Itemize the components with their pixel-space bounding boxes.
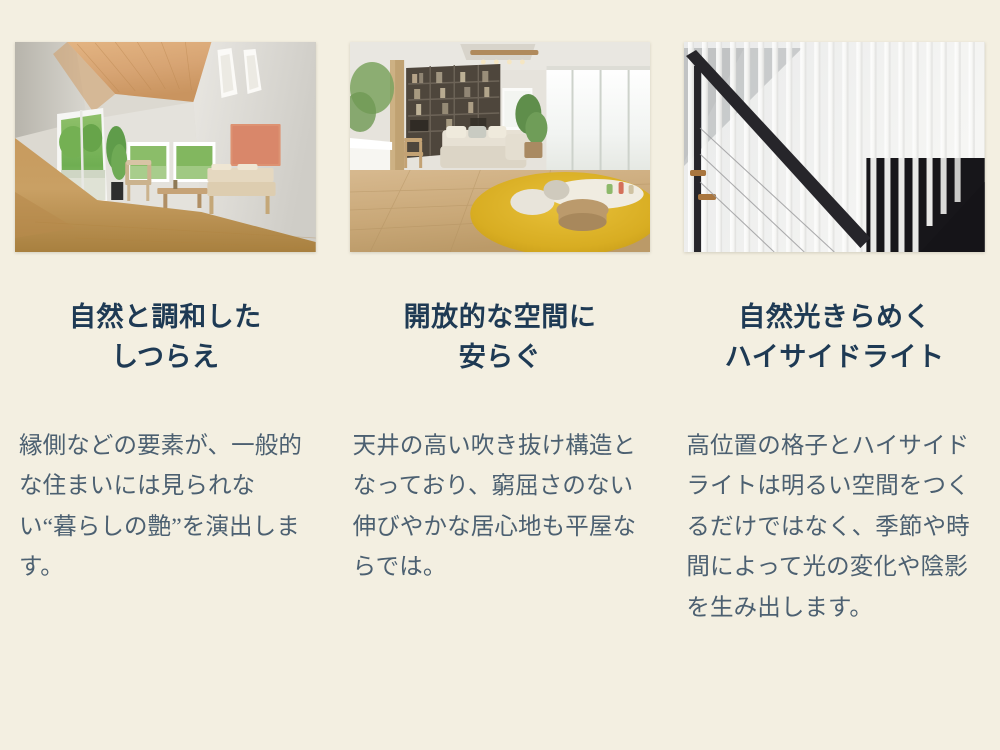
photo-high-side-light <box>684 42 985 252</box>
columns-container: 自然と調和した しつらえ 縁側などの要素が、一般的な住まいには見られない“暮らし… <box>0 0 1000 628</box>
feature-body-3: 高位置の格子とハイサイドライトは明るい空間をつくるだけではなく、季節や時間によっ… <box>684 426 985 628</box>
photo-natural-harmony-illustration <box>15 42 316 252</box>
photo-open-space-illustration <box>350 42 651 252</box>
photo-high-side-light-illustration <box>684 42 985 252</box>
feature-column-1: 自然と調和した しつらえ 縁側などの要素が、一般的な住まいには見られない“暮らし… <box>15 42 316 588</box>
feature-heading-1: 自然と調和した しつらえ <box>15 298 316 378</box>
feature-heading-2: 開放的な空間に 安らぐ <box>350 298 651 378</box>
feature-column-2: 開放的な空間に 安らぐ 天井の高い吹き抜け構造となっており、窮屈さのない伸びやか… <box>350 42 651 588</box>
feature-heading-3: 自然光きらめく ハイサイドライト <box>684 298 985 378</box>
feature-body-2: 天井の高い吹き抜け構造となっており、窮屈さのない伸びやかな居心地も平屋ならでは。 <box>350 426 651 588</box>
feature-columns-page: 自然と調和した しつらえ 縁側などの要素が、一般的な住まいには見られない“暮らし… <box>0 0 1000 750</box>
feature-column-3: 自然光きらめく ハイサイドライト 高位置の格子とハイサイドライトは明るい空間をつ… <box>684 42 985 628</box>
feature-body-1: 縁側などの要素が、一般的な住まいには見られない“暮らしの艶”を演出します。 <box>15 426 316 588</box>
photo-open-space <box>350 42 651 252</box>
photo-natural-harmony <box>15 42 316 252</box>
